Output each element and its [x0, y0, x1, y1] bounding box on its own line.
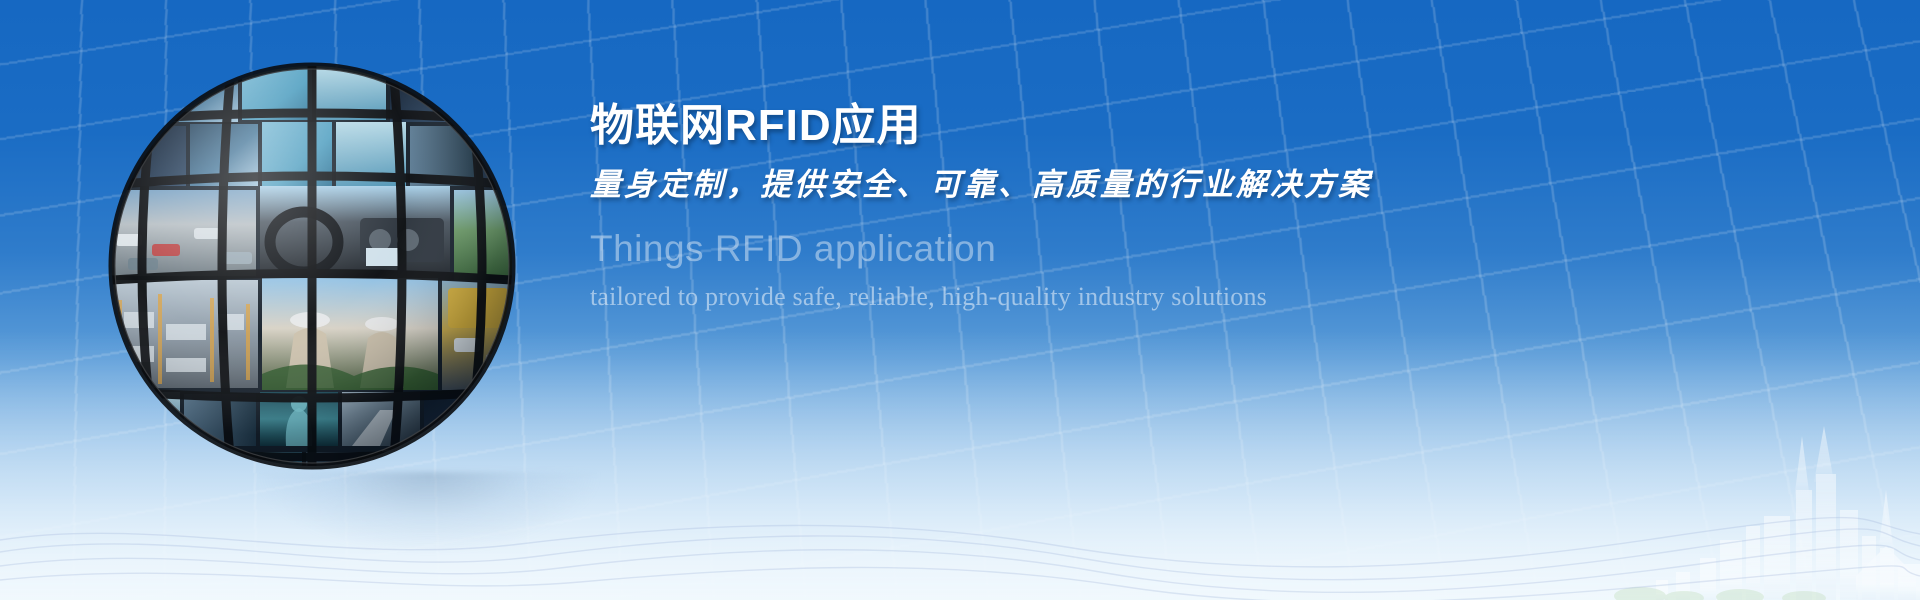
rfid-hero-banner: 物联网RFID应用 量身定制，提供安全、可靠、高质量的行业解决方案 Things… — [0, 0, 1920, 600]
globe-svg — [108, 62, 516, 474]
banner-subtitle-chinese: 量身定制，提供安全、可靠、高质量的行业解决方案 — [590, 166, 1850, 205]
banner-copy: 物联网RFID应用 量身定制，提供安全、可靠、高质量的行业解决方案 Things… — [590, 100, 1850, 314]
banner-title-chinese: 物联网RFID应用 — [590, 100, 1850, 152]
banner-title-english: Things RFID application — [590, 227, 1850, 271]
water-wave-lines — [0, 510, 1920, 600]
city-skyline-silhouette — [1400, 340, 1920, 600]
photo-mosaic-globe — [108, 62, 516, 474]
globe-reflection — [258, 472, 598, 552]
banner-subtitle-english: tailored to provide safe, reliable, high… — [590, 281, 1850, 314]
